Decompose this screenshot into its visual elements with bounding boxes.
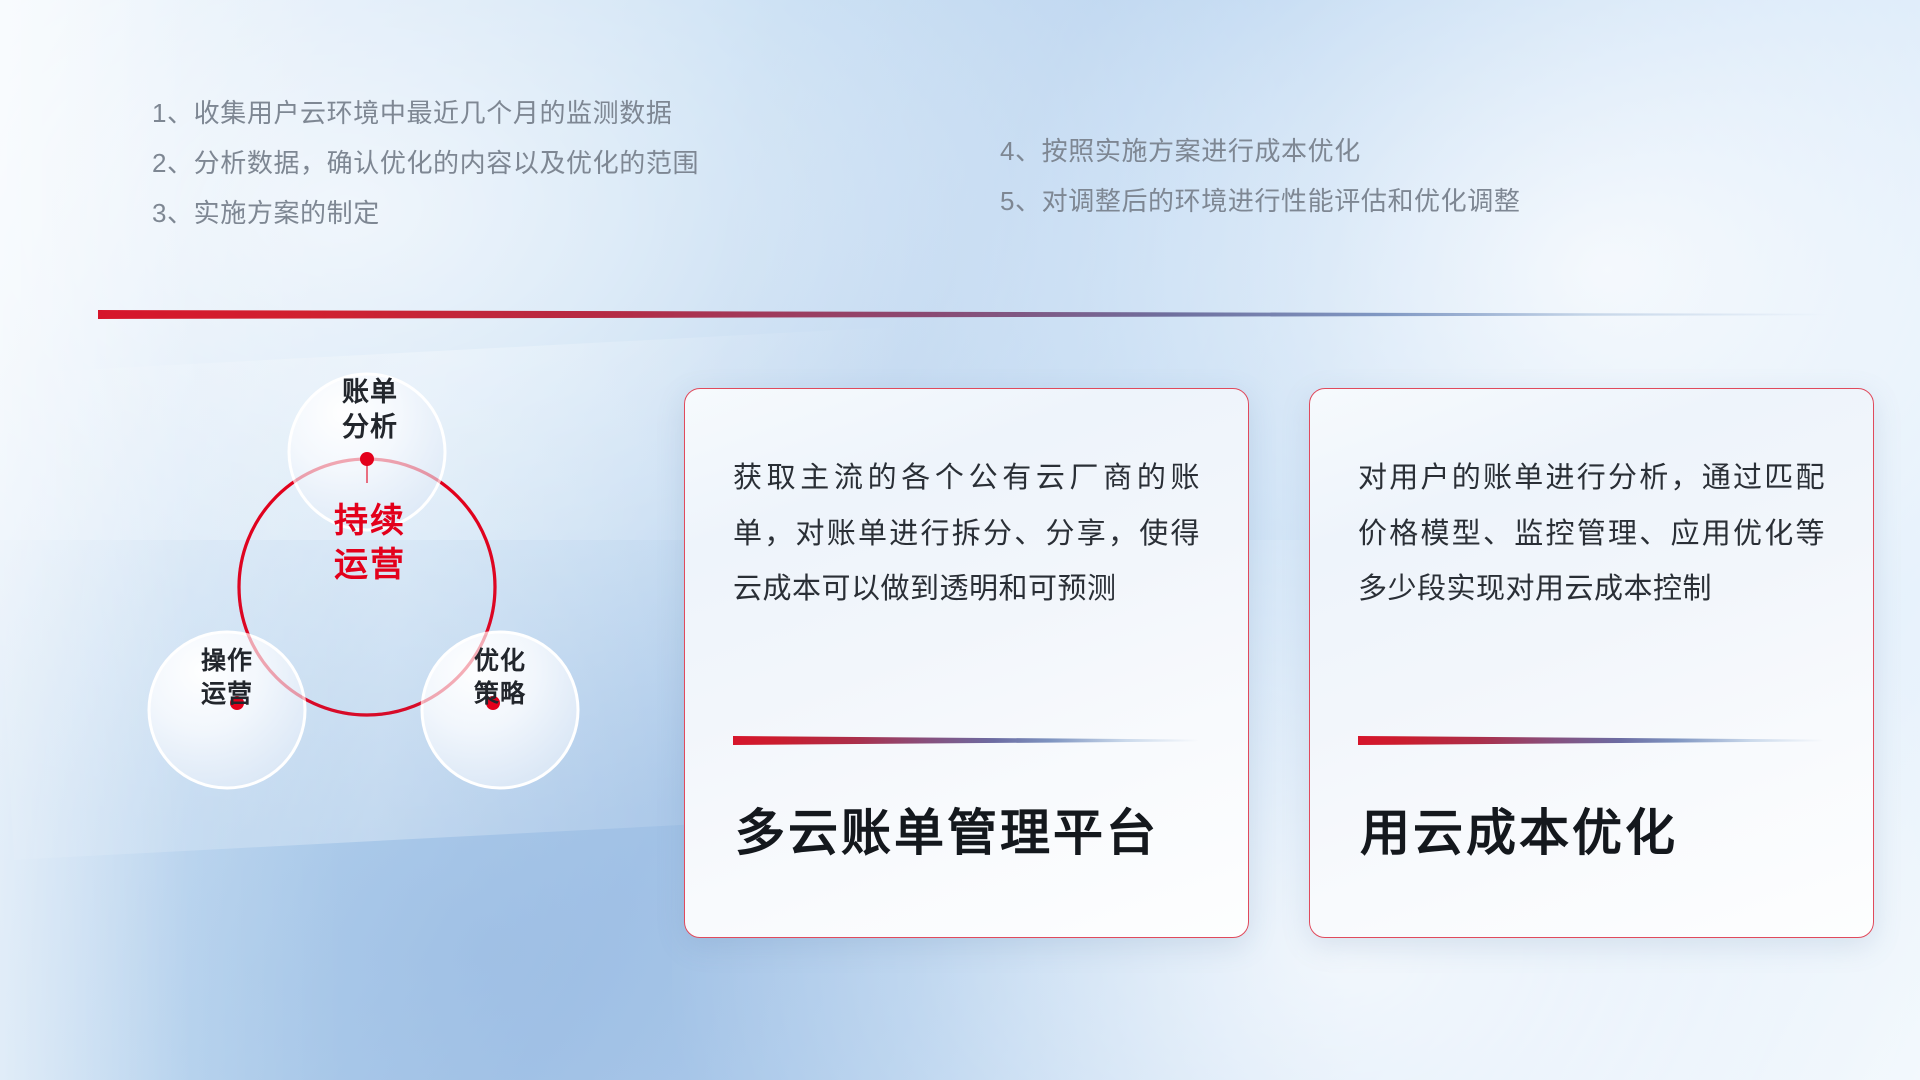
steps-right-column: 4、按照实施方案进行成本优化 5、对调整后的环境进行性能评估和优化调整 xyxy=(1000,126,1520,226)
step-item-5: 5、对调整后的环境进行性能评估和优化调整 xyxy=(1000,176,1520,226)
card-body-text: 对用户的账单进行分析，通过匹配价格模型、监控管理、应用优化等多少段实现对用云成本… xyxy=(1358,451,1825,618)
section-divider-shape xyxy=(98,310,1828,319)
step-item-2: 2、分析数据，确认优化的内容以及优化的范围 xyxy=(152,138,699,188)
steps-left-column: 1、收集用户云环境中最近几个月的监测数据 2、分析数据，确认优化的内容以及优化的… xyxy=(152,88,699,238)
venn-label-optimization-strategy: 优化 策略 xyxy=(420,645,580,710)
card-title: 多云账单管理平台 xyxy=(733,745,1200,937)
step-item-3: 3、实施方案的制定 xyxy=(152,188,699,238)
card-divider xyxy=(1358,736,1825,745)
venn-label-operations: 操作 运营 xyxy=(147,645,307,710)
card-body-text: 获取主流的各个公有云厂商的账单，对账单进行拆分、分享，使得云成本可以做到透明和可… xyxy=(733,451,1200,618)
step-item-1: 1、收集用户云环境中最近几个月的监测数据 xyxy=(152,88,699,138)
step-item-4: 4、按照实施方案进行成本优化 xyxy=(1000,126,1520,176)
venn-center-label: 持续 运营 xyxy=(275,500,465,587)
venn-diagram: 账单 分析 操作 运营 优化 策略 持续 运营 xyxy=(95,355,615,825)
venn-label-billing-analysis: 账单 分析 xyxy=(290,375,450,445)
process-steps: 1、收集用户云环境中最近几个月的监测数据 2、分析数据，确认优化的内容以及优化的… xyxy=(0,88,1920,253)
card-multicloud-billing[interactable]: 获取主流的各个公有云厂商的账单，对账单进行拆分、分享，使得云成本可以做到透明和可… xyxy=(684,388,1249,938)
section-divider-rule xyxy=(98,310,1828,319)
info-cards: 获取主流的各个公有云厂商的账单，对账单进行拆分、分享，使得云成本可以做到透明和可… xyxy=(684,388,1874,938)
card-title: 用云成本优化 xyxy=(1358,745,1825,937)
card-cloud-cost-optimization[interactable]: 对用户的账单进行分析，通过匹配价格模型、监控管理、应用优化等多少段实现对用云成本… xyxy=(1309,388,1874,938)
card-divider xyxy=(733,736,1200,745)
